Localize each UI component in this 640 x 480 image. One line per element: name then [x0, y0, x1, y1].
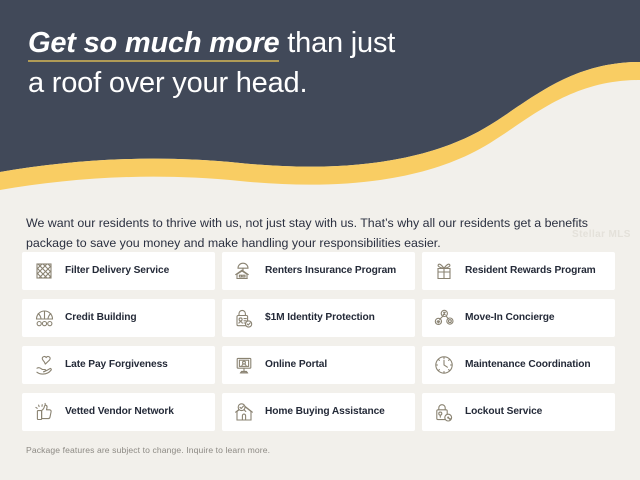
page-title-rest: than just: [279, 27, 395, 59]
dome-stars-icon: [32, 306, 56, 330]
gift-box-icon: [432, 259, 456, 283]
intro-paragraph: We want our residents to thrive with us,…: [26, 213, 620, 253]
content-area: We want our residents to thrive with us,…: [0, 200, 640, 480]
feature-card[interactable]: Renters Insurance Program: [222, 252, 415, 290]
connected-nodes-icon: [432, 306, 456, 330]
features-grid: Filter Delivery Service Renters Insuranc…: [22, 252, 618, 431]
hero-banner: Get so much more than just a roof over y…: [0, 0, 640, 200]
page-title-highlight: Get so much more: [28, 27, 279, 62]
feature-card[interactable]: Move-In Concierge: [422, 299, 615, 337]
feature-label: $1M Identity Protection: [265, 312, 375, 324]
feature-label: Move-In Concierge: [465, 312, 554, 324]
feature-card[interactable]: Credit Building: [22, 299, 215, 337]
feature-card[interactable]: Late Pay Forgiveness: [22, 346, 215, 384]
filter-grid-icon: [32, 259, 56, 283]
feature-label: Home Buying Assistance: [265, 406, 385, 418]
umbrella-house-icon: [232, 259, 256, 283]
feature-label: Credit Building: [65, 312, 137, 324]
feature-label: Maintenance Coordination: [465, 359, 591, 371]
feature-label: Lockout Service: [465, 406, 542, 418]
padlock-key-icon: [432, 400, 456, 424]
feature-label: Resident Rewards Program: [465, 265, 596, 277]
feature-label: Renters Insurance Program: [265, 265, 396, 277]
page-title: Get so much more than just a roof over y…: [28, 26, 588, 101]
feature-card[interactable]: Resident Rewards Program: [422, 252, 615, 290]
feature-card[interactable]: Vetted Vendor Network: [22, 393, 215, 431]
id-lock-check-icon: [232, 306, 256, 330]
disclaimer-text: Package features are subject to change. …: [26, 445, 270, 455]
feature-card[interactable]: Maintenance Coordination: [422, 346, 615, 384]
heart-in-hand-icon: [32, 353, 56, 377]
feature-card[interactable]: $1M Identity Protection: [222, 299, 415, 337]
stellar-mls-watermark: Stellar MLS: [572, 229, 631, 240]
feature-card[interactable]: Lockout Service: [422, 393, 615, 431]
clock-icon: [432, 353, 456, 377]
page-title-line2: a roof over your head.: [28, 66, 588, 101]
thumbs-up-icon: [32, 400, 56, 424]
feature-label: Filter Delivery Service: [65, 265, 169, 277]
feature-card[interactable]: Filter Delivery Service: [22, 252, 215, 290]
house-magnifier-icon: [232, 400, 256, 424]
feature-card[interactable]: Home Buying Assistance: [222, 393, 415, 431]
feature-label: Online Portal: [265, 359, 327, 371]
feature-label: Vetted Vendor Network: [65, 406, 174, 418]
monitor-person-icon: [232, 353, 256, 377]
feature-card[interactable]: Online Portal: [222, 346, 415, 384]
feature-label: Late Pay Forgiveness: [65, 359, 168, 371]
